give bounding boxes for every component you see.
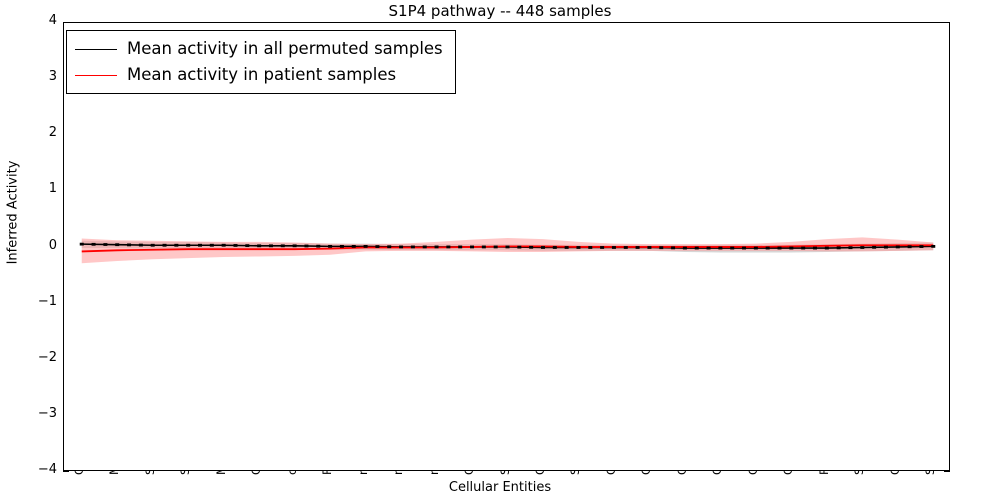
figure: S1P4 pathway -- 448 samples Inferred Act…: [0, 0, 1000, 500]
y-tick-label: −3: [38, 406, 57, 421]
data-point-marker: [316, 245, 320, 248]
data-point-marker: [92, 243, 96, 246]
x-axis-title: Cellular Entities: [0, 480, 1000, 495]
data-point-marker: [813, 247, 817, 250]
y-tick-mark: [63, 471, 69, 472]
data-point-marker: [908, 245, 912, 248]
data-point-marker: [541, 246, 545, 249]
data-point-marker: [931, 245, 935, 248]
data-point-marker: [683, 247, 687, 250]
y-tick-label: −2: [38, 350, 57, 365]
data-point-marker: [860, 246, 864, 249]
data-point-marker: [647, 246, 651, 249]
data-point-marker: [636, 246, 640, 249]
data-point-marker: [364, 245, 368, 248]
data-point-marker: [837, 246, 841, 249]
data-point-marker: [517, 246, 521, 249]
legend-label-permuted: Mean activity in all permuted samples: [127, 41, 443, 58]
data-point-marker: [600, 246, 604, 249]
data-point-marker: [801, 247, 805, 250]
data-point-marker: [848, 246, 852, 249]
data-point-marker: [387, 245, 391, 248]
data-point-marker: [340, 245, 344, 248]
y-tick-label: 1: [49, 181, 57, 196]
data-point-marker: [482, 246, 486, 249]
y-tick-mark-right: [944, 471, 950, 472]
data-point-marker: [139, 244, 143, 247]
data-point-marker: [494, 246, 498, 249]
data-point-marker: [222, 244, 226, 247]
legend-label-patient: Mean activity in patient samples: [127, 67, 396, 84]
data-point-marker: [659, 246, 663, 249]
data-point-marker: [470, 246, 474, 249]
data-point-marker: [825, 247, 829, 250]
legend-line-swatch-patient: [75, 75, 117, 76]
data-point-marker: [506, 246, 510, 249]
data-point-marker: [742, 247, 746, 250]
data-point-marker: [565, 246, 569, 249]
legend-item-patient: Mean activity in patient samples: [75, 62, 443, 88]
data-point-marker: [245, 244, 249, 247]
data-point-marker: [588, 246, 592, 249]
data-point-marker: [624, 246, 628, 249]
data-point-marker: [884, 246, 888, 249]
y-tick-label: 3: [49, 69, 57, 84]
data-point-marker: [198, 244, 202, 247]
data-point-marker: [328, 245, 332, 248]
legend: Mean activity in all permuted samples Me…: [66, 30, 456, 94]
legend-line-swatch-permuted: [75, 49, 117, 50]
data-point-marker: [754, 247, 758, 250]
y-tick-label: −4: [38, 462, 57, 477]
data-point-marker: [210, 244, 214, 247]
data-point-marker: [352, 245, 356, 248]
legend-item-permuted: Mean activity in all permuted samples: [75, 36, 443, 62]
data-point-marker: [233, 244, 237, 247]
data-point-marker: [163, 244, 167, 247]
data-point-marker: [281, 244, 285, 247]
data-point-marker: [789, 247, 793, 250]
data-point-marker: [695, 247, 699, 250]
data-point-marker: [423, 246, 427, 249]
data-point-marker: [919, 245, 923, 248]
data-point-marker: [127, 243, 131, 246]
data-point-marker: [778, 247, 782, 250]
y-tick-label: −1: [38, 294, 57, 309]
data-point-marker: [730, 247, 734, 250]
data-point-marker: [151, 244, 155, 247]
chart-title: S1P4 pathway -- 448 samples: [0, 2, 1000, 20]
data-point-marker: [458, 246, 462, 249]
data-point-marker: [304, 245, 308, 248]
data-point-marker: [257, 244, 261, 247]
data-point-marker: [174, 244, 178, 247]
confidence-band: [82, 237, 934, 263]
data-point-marker: [115, 243, 119, 246]
data-point-marker: [872, 246, 876, 249]
data-point-marker: [896, 246, 900, 249]
data-point-marker: [103, 243, 107, 246]
data-point-marker: [411, 246, 415, 249]
y-tick-label: 0: [49, 238, 57, 253]
data-point-marker: [671, 246, 675, 249]
data-point-marker: [446, 246, 450, 249]
data-point-marker: [707, 247, 711, 250]
y-tick-label: 2: [49, 125, 57, 140]
data-point-marker: [435, 246, 439, 249]
data-point-marker: [766, 247, 770, 250]
y-tick-label: 4: [49, 13, 57, 28]
data-point-marker: [553, 246, 557, 249]
data-point-marker: [269, 244, 273, 247]
data-point-marker: [718, 247, 722, 250]
data-point-marker: [399, 246, 403, 249]
data-point-marker: [186, 244, 190, 247]
y-axis-title: Inferred Activity: [6, 123, 21, 303]
data-point-marker: [375, 245, 379, 248]
data-point-marker: [529, 246, 533, 249]
data-point-marker: [576, 246, 580, 249]
data-point-marker: [293, 244, 297, 247]
data-point-marker: [612, 246, 616, 249]
data-point-marker: [80, 243, 84, 246]
